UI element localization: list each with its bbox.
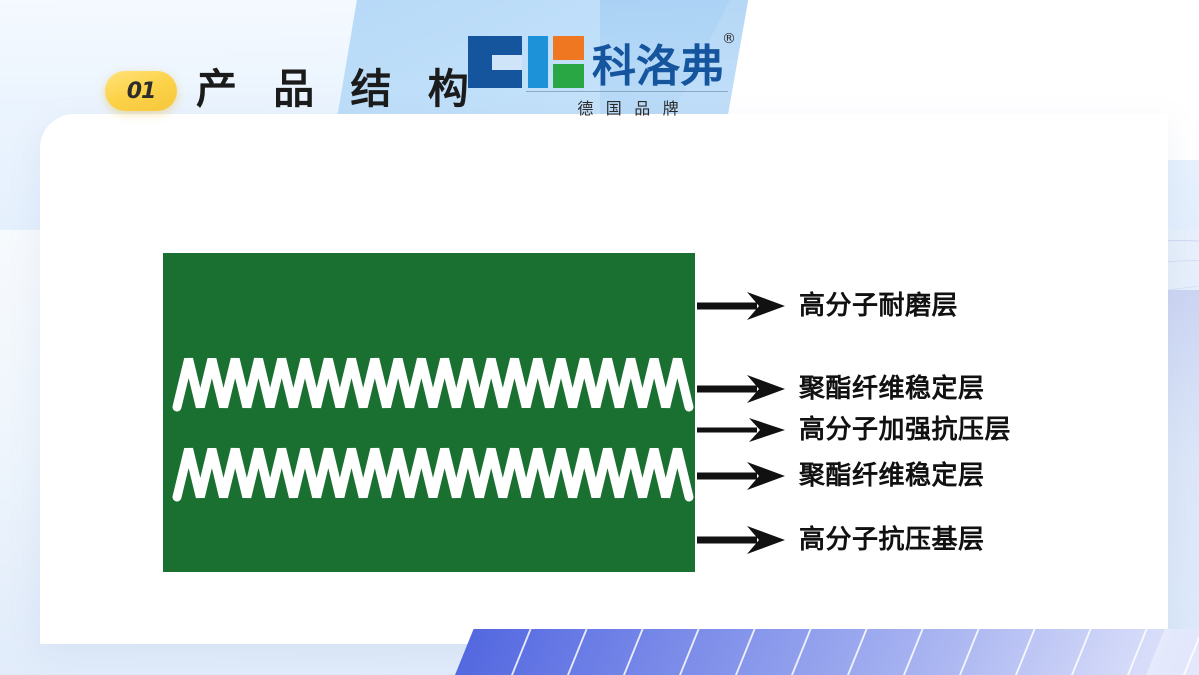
section-number-badge: 01 (105, 71, 177, 111)
cross-section-waves (163, 253, 695, 572)
polyester-fiber-wave-upper-path (177, 359, 689, 407)
brand-name: 科洛弗 (592, 30, 724, 94)
arrow-right-icon (695, 289, 791, 323)
bottom-band-stripe (1071, 629, 1092, 675)
bottom-band-stripe (623, 629, 644, 675)
bottom-band (455, 629, 1199, 675)
bottom-band-stripe (1127, 629, 1148, 675)
bottom-band-stripe (1015, 629, 1036, 675)
klf-blocks-logo-icon (468, 36, 572, 88)
logo-green-square-icon (553, 64, 584, 88)
callout-list: 高分子耐磨层 聚酯纤维稳定层 高分子加强抗压层 聚酯纤维稳定层 (695, 253, 1095, 583)
arrow-right-icon (695, 459, 791, 493)
bottom-band-stripe (959, 629, 980, 675)
callout-label: 高分子抗压基层 (799, 519, 985, 556)
bottom-band-stripe (847, 629, 868, 675)
section-number-label: 01 (127, 79, 156, 104)
bottom-band-stripe (511, 629, 532, 675)
bottom-band-stripe (735, 629, 756, 675)
slide-root: 01 产 品 结 构 科洛弗 ® 德 国 品 牌 高分子耐磨层 (0, 0, 1199, 675)
brand-logo: 科洛弗 ® 德 国 品 牌 (468, 32, 730, 114)
bottom-band-stripe (903, 629, 924, 675)
callout-label: 高分子耐磨层 (799, 285, 958, 322)
bottom-band-stripe (791, 629, 812, 675)
callout-label: 聚酯纤维稳定层 (799, 368, 985, 405)
page-title: 产 品 结 构 (196, 55, 482, 115)
callout-label: 高分子加强抗压层 (799, 409, 1011, 446)
brand-subtitle: 德 国 品 牌 (542, 95, 718, 119)
polyester-fiber-wave-lower-path (177, 449, 689, 497)
arrow-right-icon (695, 523, 791, 557)
bottom-band-stripe (567, 629, 588, 675)
bottom-band-stripe (679, 629, 700, 675)
registered-mark-icon: ® (722, 31, 736, 47)
logo-bar-block-icon (528, 36, 548, 88)
product-cross-section-panel (163, 253, 695, 572)
brand-divider (526, 91, 728, 92)
logo-c-block-icon (468, 36, 522, 88)
arrow-right-icon (695, 413, 791, 447)
arrow-right-icon (695, 372, 791, 406)
logo-orange-square-icon (553, 36, 584, 60)
callout-label: 聚酯纤维稳定层 (799, 455, 985, 492)
